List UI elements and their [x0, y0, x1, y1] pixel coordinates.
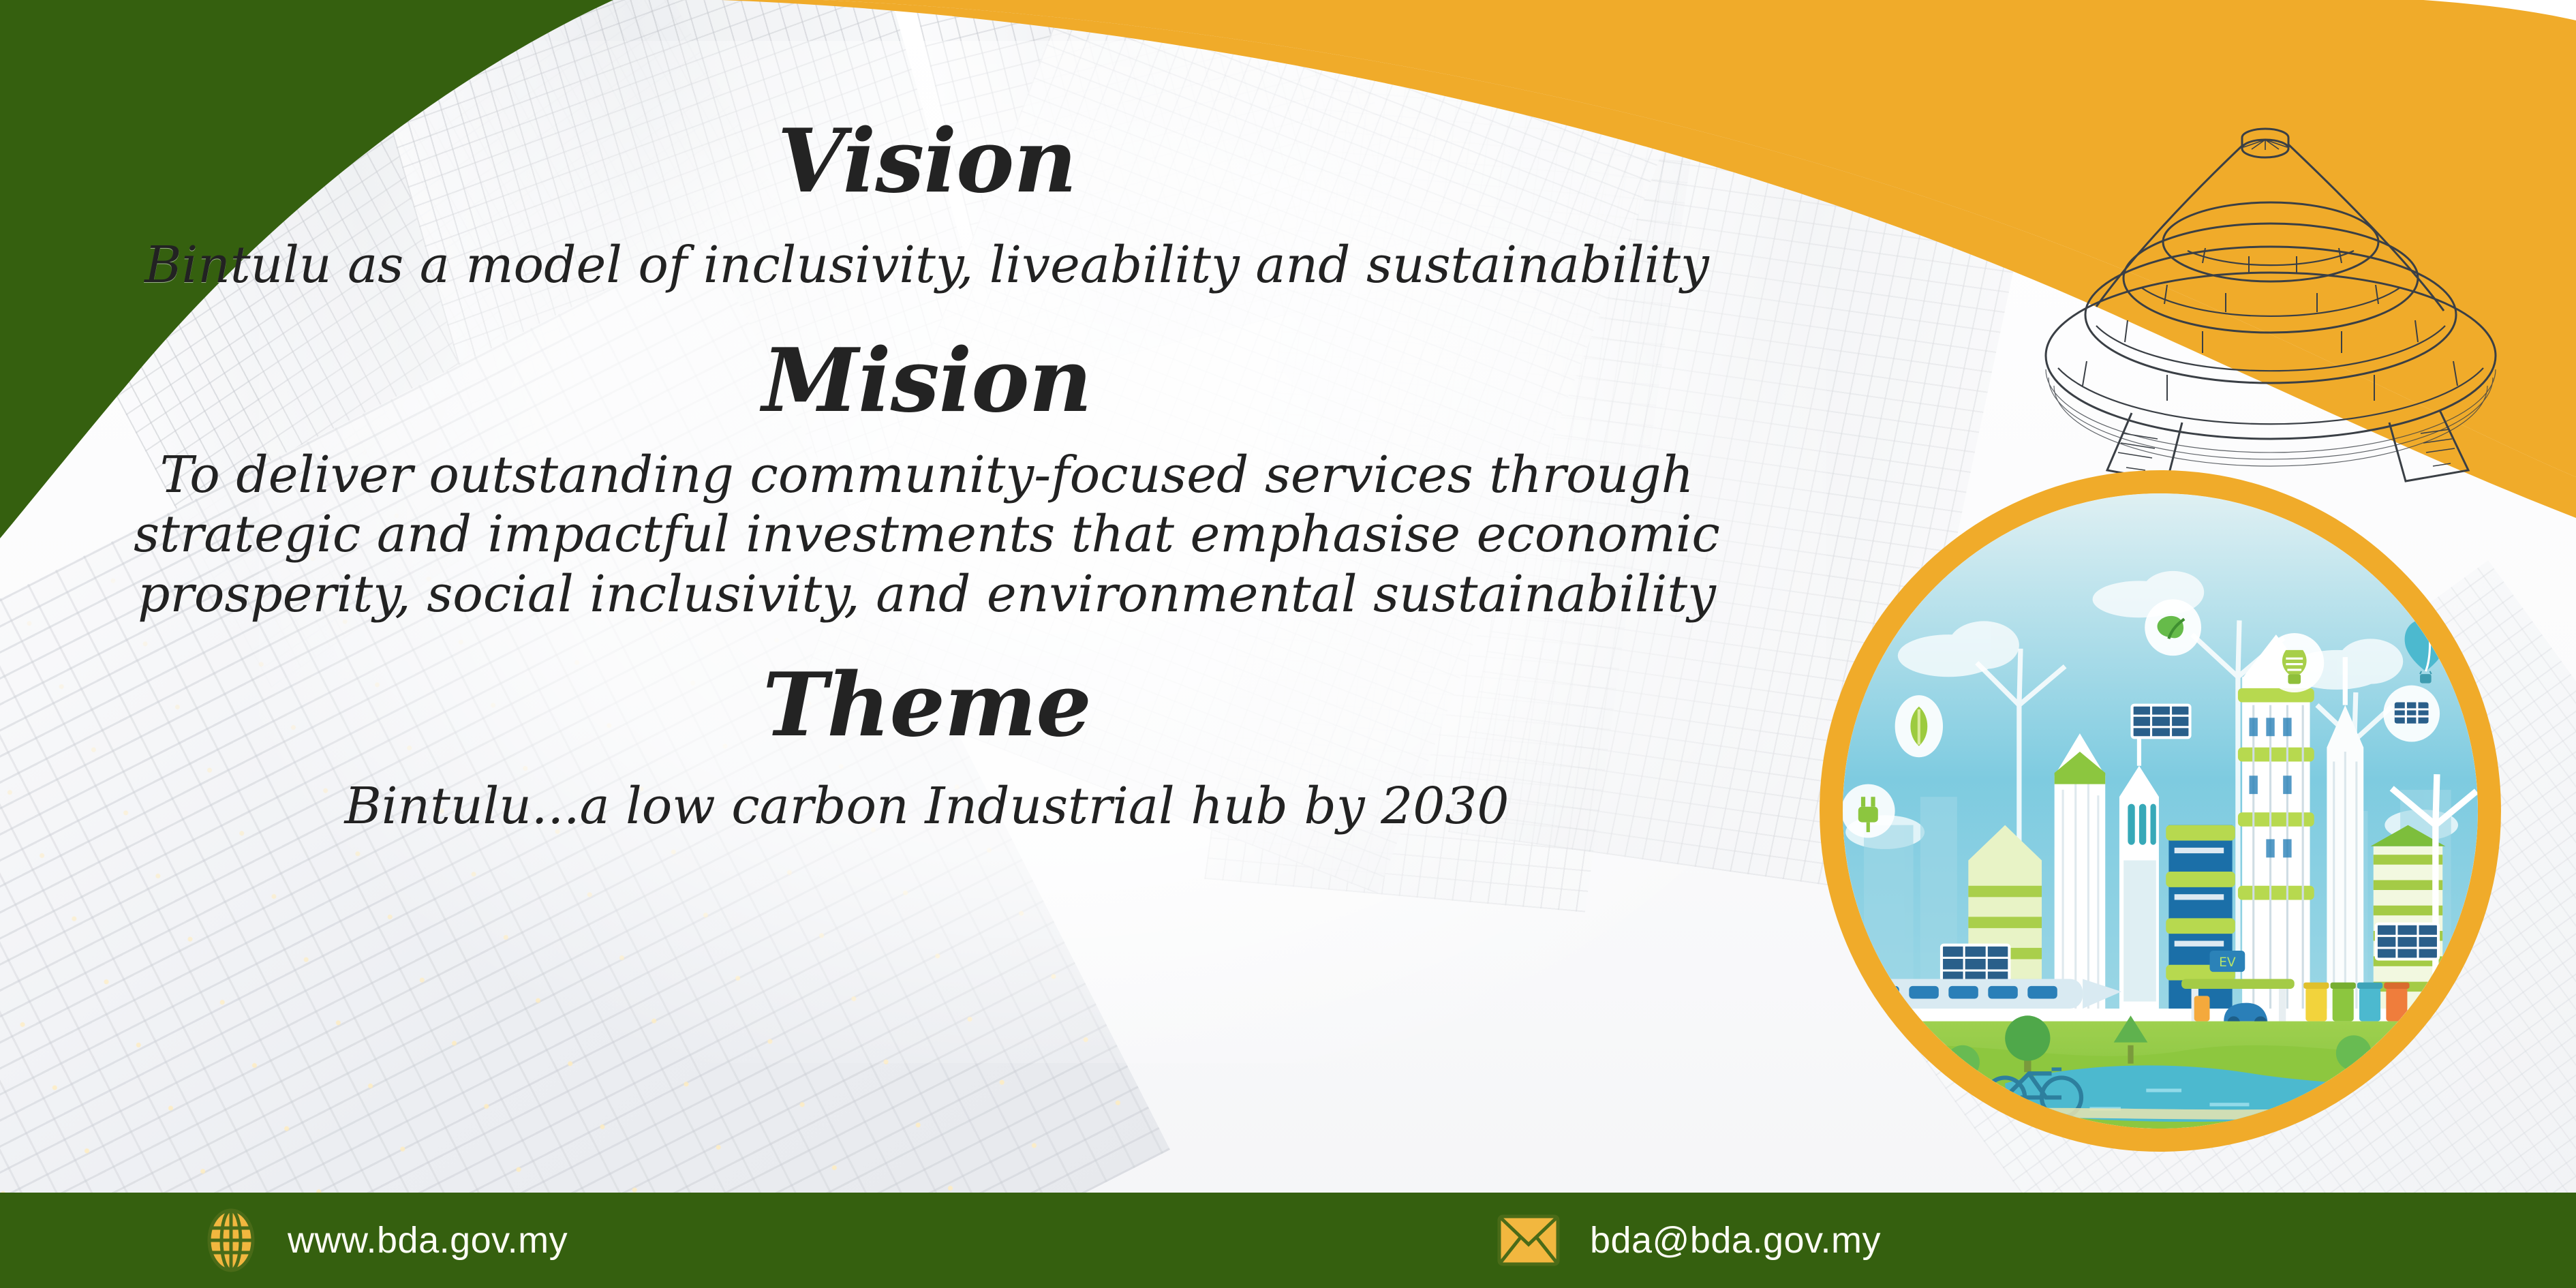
bintulu-dome-building-icon — [1963, 102, 2576, 484]
mission-line-1: To deliver outstanding community-focused… — [134, 446, 1720, 505]
mission-line-3: prosperity, social inclusivity, and envi… — [134, 565, 1720, 624]
website-label: www.bda.gov.my — [288, 1219, 568, 1261]
footer-bar: www.bda.gov.my bda@bda.gov.my — [0, 1193, 2576, 1288]
envelope-icon — [1497, 1214, 1560, 1266]
text-content: Vision Bintulu as a model of inclusivity… — [0, 0, 1854, 1193]
theme-statement: Bintulu...a low carbon Industrial hub by… — [345, 777, 1509, 836]
eco-city-circle-frame: EV — [1820, 470, 2501, 1152]
theme-heading: Theme — [345, 660, 1509, 751]
mission-line-2: strategic and impactful investments that… — [134, 505, 1720, 564]
section-theme: Theme Bintulu...a low carbon Industrial … — [345, 660, 1509, 837]
section-mission: Mision To deliver outstanding community-… — [134, 335, 1720, 624]
eco-city-illustration: EV — [1843, 493, 2478, 1129]
vision-heading: Vision — [144, 116, 1709, 207]
svg-text:EV: EV — [2219, 955, 2236, 970]
section-vision: Vision Bintulu as a model of inclusivity… — [144, 116, 1709, 296]
footer-website[interactable]: www.bda.gov.my — [204, 1208, 568, 1273]
email-label: bda@bda.gov.my — [1590, 1219, 1881, 1261]
bda-vision-mission-banner: Vision Bintulu as a model of inclusivity… — [0, 0, 2576, 1288]
mission-heading: Mision — [134, 335, 1720, 427]
vision-statement: Bintulu as a model of inclusivity, livea… — [144, 236, 1709, 295]
globe-icon — [204, 1208, 258, 1273]
footer-email[interactable]: bda@bda.gov.my — [1497, 1214, 1881, 1266]
